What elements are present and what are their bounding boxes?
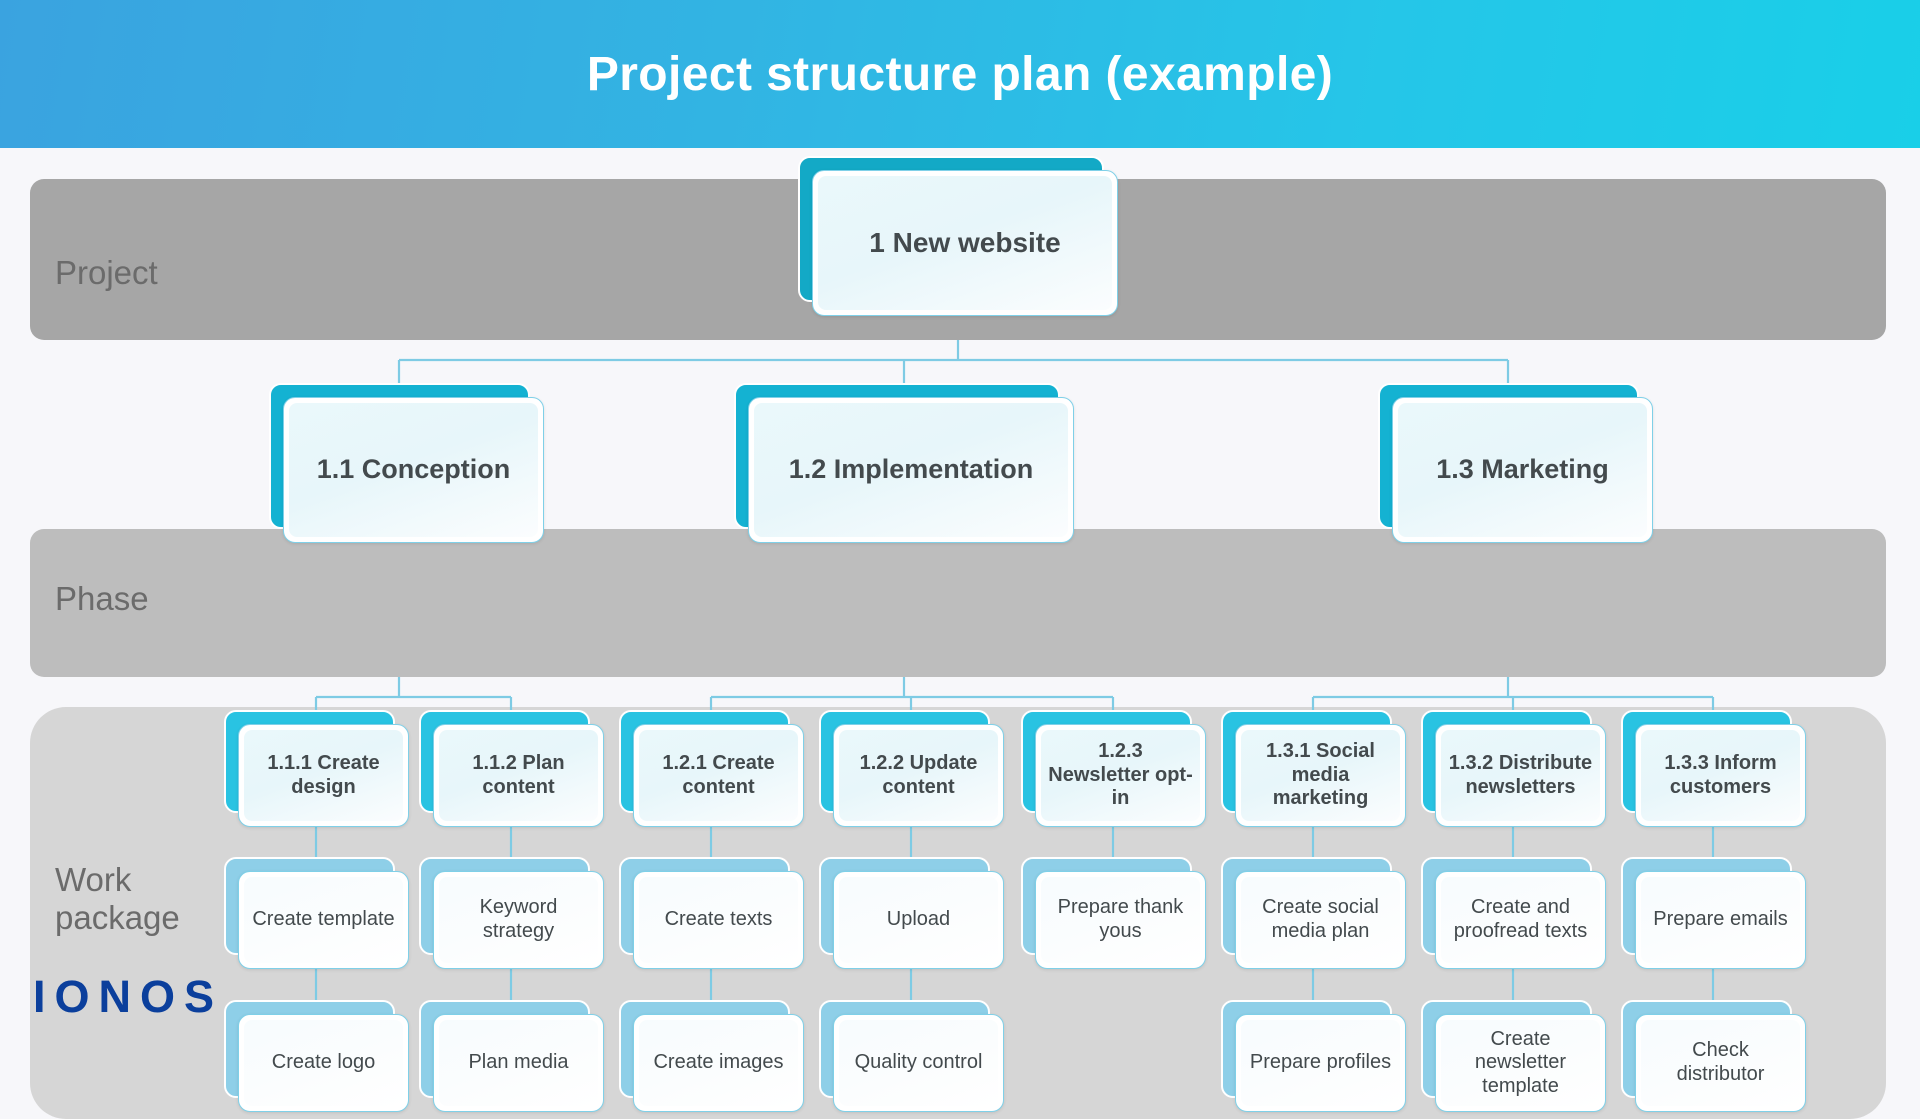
node-label: Upload [845, 908, 992, 932]
node-label: Create images [645, 1051, 792, 1075]
node-inner: Keyword strategy [439, 877, 598, 963]
node-label: 1.1.1 Create design [250, 752, 397, 799]
node-card: 1.3.3 Inform customers [1635, 724, 1806, 827]
node-card: Create social media plan [1235, 871, 1406, 969]
node-wp-3[interactable]: Create texts [619, 857, 804, 969]
node-inner: 1.3.2 Distribute newsletters [1441, 730, 1600, 821]
node-card: 1 New website [812, 170, 1118, 316]
node-card: 1.1.1 Create design [238, 724, 409, 827]
node-inner: 1.1.1 Create design [244, 730, 403, 821]
node-inner: 1.3.1 Social media marketing [1241, 730, 1400, 821]
node-inner: Prepare profiles [1241, 1020, 1400, 1106]
node-task-1-3-1[interactable]: 1.3.1 Social media marketing [1221, 710, 1406, 827]
node-label: 1.2 Implementation [760, 454, 1062, 486]
page-header: Project structure plan (example) [0, 0, 1920, 148]
node-card: Create texts [633, 871, 804, 969]
node-card: Plan media [433, 1014, 604, 1112]
node-label: Create template [250, 908, 397, 932]
node-card: 1.2.1 Create content [633, 724, 804, 827]
node-inner: Create template [244, 877, 403, 963]
node-task-1-2-1[interactable]: 1.2.1 Create content [619, 710, 804, 827]
node-wp-13[interactable]: Prepare profiles [1221, 1000, 1406, 1112]
node-task-1-3-2[interactable]: 1.3.2 Distribute newsletters [1421, 710, 1606, 827]
node-wp-7[interactable]: Create and proofread texts [1421, 857, 1606, 969]
node-inner: 1.2.3 Newsletter opt-in [1041, 730, 1200, 821]
node-card: Prepare profiles [1235, 1014, 1406, 1112]
node-phase-1-2[interactable]: 1.2 Implementation [734, 383, 1074, 543]
diagram-stage: Project Phase Work package [0, 148, 1920, 1080]
node-wp-11[interactable]: Create images [619, 1000, 804, 1112]
node-label: Create social media plan [1247, 896, 1394, 943]
node-card: Create logo [238, 1014, 409, 1112]
node-wp-14[interactable]: Create newsletter template [1421, 1000, 1606, 1112]
node-inner: 1 New website [818, 176, 1112, 310]
node-wp-12[interactable]: Quality control [819, 1000, 1004, 1112]
node-label: Prepare emails [1647, 908, 1794, 932]
node-label: 1.1.2 Plan content [445, 752, 592, 799]
node-card: Create template [238, 871, 409, 969]
node-label: 1.2.3 Newsletter opt-in [1047, 740, 1194, 811]
node-label: 1 New website [824, 226, 1106, 259]
node-label: 1.2.1 Create content [645, 752, 792, 799]
node-wp-5[interactable]: Prepare thank yous [1021, 857, 1206, 969]
node-inner: Plan media [439, 1020, 598, 1106]
node-wp-4[interactable]: Upload [819, 857, 1004, 969]
node-wp-6[interactable]: Create social media plan [1221, 857, 1406, 969]
node-card: Upload [833, 871, 1004, 969]
node-wp-15[interactable]: Check distributor [1621, 1000, 1806, 1112]
node-label: Quality control [845, 1051, 992, 1075]
node-wp-9[interactable]: Create logo [224, 1000, 409, 1112]
node-card: Quality control [833, 1014, 1004, 1112]
node-inner: Create newsletter template [1441, 1020, 1600, 1106]
node-label: Create newsletter template [1447, 1028, 1594, 1099]
node-label: Create texts [645, 908, 792, 932]
node-wp-2[interactable]: Keyword strategy [419, 857, 604, 969]
node-task-1-3-3[interactable]: 1.3.3 Inform customers [1621, 710, 1806, 827]
node-card: Prepare emails [1635, 871, 1806, 969]
node-label: Plan media [445, 1051, 592, 1075]
node-inner: 1.3 Marketing [1398, 403, 1647, 537]
node-phase-1-3[interactable]: 1.3 Marketing [1378, 383, 1653, 543]
node-task-1-2-3[interactable]: 1.2.3 Newsletter opt-in [1021, 710, 1206, 827]
node-card: Create images [633, 1014, 804, 1112]
node-inner: 1.1.2 Plan content [439, 730, 598, 821]
node-wp-1[interactable]: Create template [224, 857, 409, 969]
node-inner: 1.3.3 Inform customers [1641, 730, 1800, 821]
node-label: 1.1 Conception [295, 454, 532, 486]
node-card: 1.3 Marketing [1392, 397, 1653, 543]
node-label: 1.3.3 Inform customers [1647, 752, 1794, 799]
node-project[interactable]: 1 New website [798, 156, 1118, 316]
node-wp-10[interactable]: Plan media [419, 1000, 604, 1112]
node-inner: 1.1 Conception [289, 403, 538, 537]
node-card: 1.3.1 Social media marketing [1235, 724, 1406, 827]
node-card: 1.1 Conception [283, 397, 544, 543]
node-card: Check distributor [1635, 1014, 1806, 1112]
node-label: 1.3.2 Distribute newsletters [1447, 752, 1594, 799]
node-inner: Quality control [839, 1020, 998, 1106]
node-label: Create and proofread texts [1447, 896, 1594, 943]
node-card: Prepare thank yous [1035, 871, 1206, 969]
node-inner: Check distributor [1641, 1020, 1800, 1106]
node-card: 1.2 Implementation [748, 397, 1074, 543]
node-card: 1.3.2 Distribute newsletters [1435, 724, 1606, 827]
node-inner: Create images [639, 1020, 798, 1106]
node-label: Prepare thank yous [1047, 896, 1194, 943]
node-inner: 1.2 Implementation [754, 403, 1068, 537]
node-inner: Create and proofread texts [1441, 877, 1600, 963]
node-task-1-2-2[interactable]: 1.2.2 Update content [819, 710, 1004, 827]
node-inner: Upload [839, 877, 998, 963]
node-label: Create logo [250, 1051, 397, 1075]
node-wp-8[interactable]: Prepare emails [1621, 857, 1806, 969]
ionos-logo: IONOS [33, 971, 223, 1023]
node-phase-1-1[interactable]: 1.1 Conception [269, 383, 544, 543]
node-inner: 1.2.1 Create content [639, 730, 798, 821]
node-inner: Create social media plan [1241, 877, 1400, 963]
node-label: Prepare profiles [1247, 1051, 1394, 1075]
node-label: 1.3.1 Social media marketing [1247, 740, 1394, 811]
node-card: Keyword strategy [433, 871, 604, 969]
node-card: Create and proofread texts [1435, 871, 1606, 969]
node-card: 1.2.2 Update content [833, 724, 1004, 827]
node-inner: Create texts [639, 877, 798, 963]
node-task-1-1-1[interactable]: 1.1.1 Create design [224, 710, 409, 827]
page-title: Project structure plan (example) [587, 47, 1333, 102]
node-card: 1.2.3 Newsletter opt-in [1035, 724, 1206, 827]
node-card: 1.1.2 Plan content [433, 724, 604, 827]
node-inner: Prepare emails [1641, 877, 1800, 963]
node-inner: Create logo [244, 1020, 403, 1106]
node-inner: Prepare thank yous [1041, 877, 1200, 963]
node-label: 1.2.2 Update content [845, 752, 992, 799]
node-label: Keyword strategy [445, 896, 592, 943]
node-card: Create newsletter template [1435, 1014, 1606, 1112]
node-label: 1.3 Marketing [1404, 454, 1641, 486]
node-inner: 1.2.2 Update content [839, 730, 998, 821]
node-task-1-1-2[interactable]: 1.1.2 Plan content [419, 710, 604, 827]
